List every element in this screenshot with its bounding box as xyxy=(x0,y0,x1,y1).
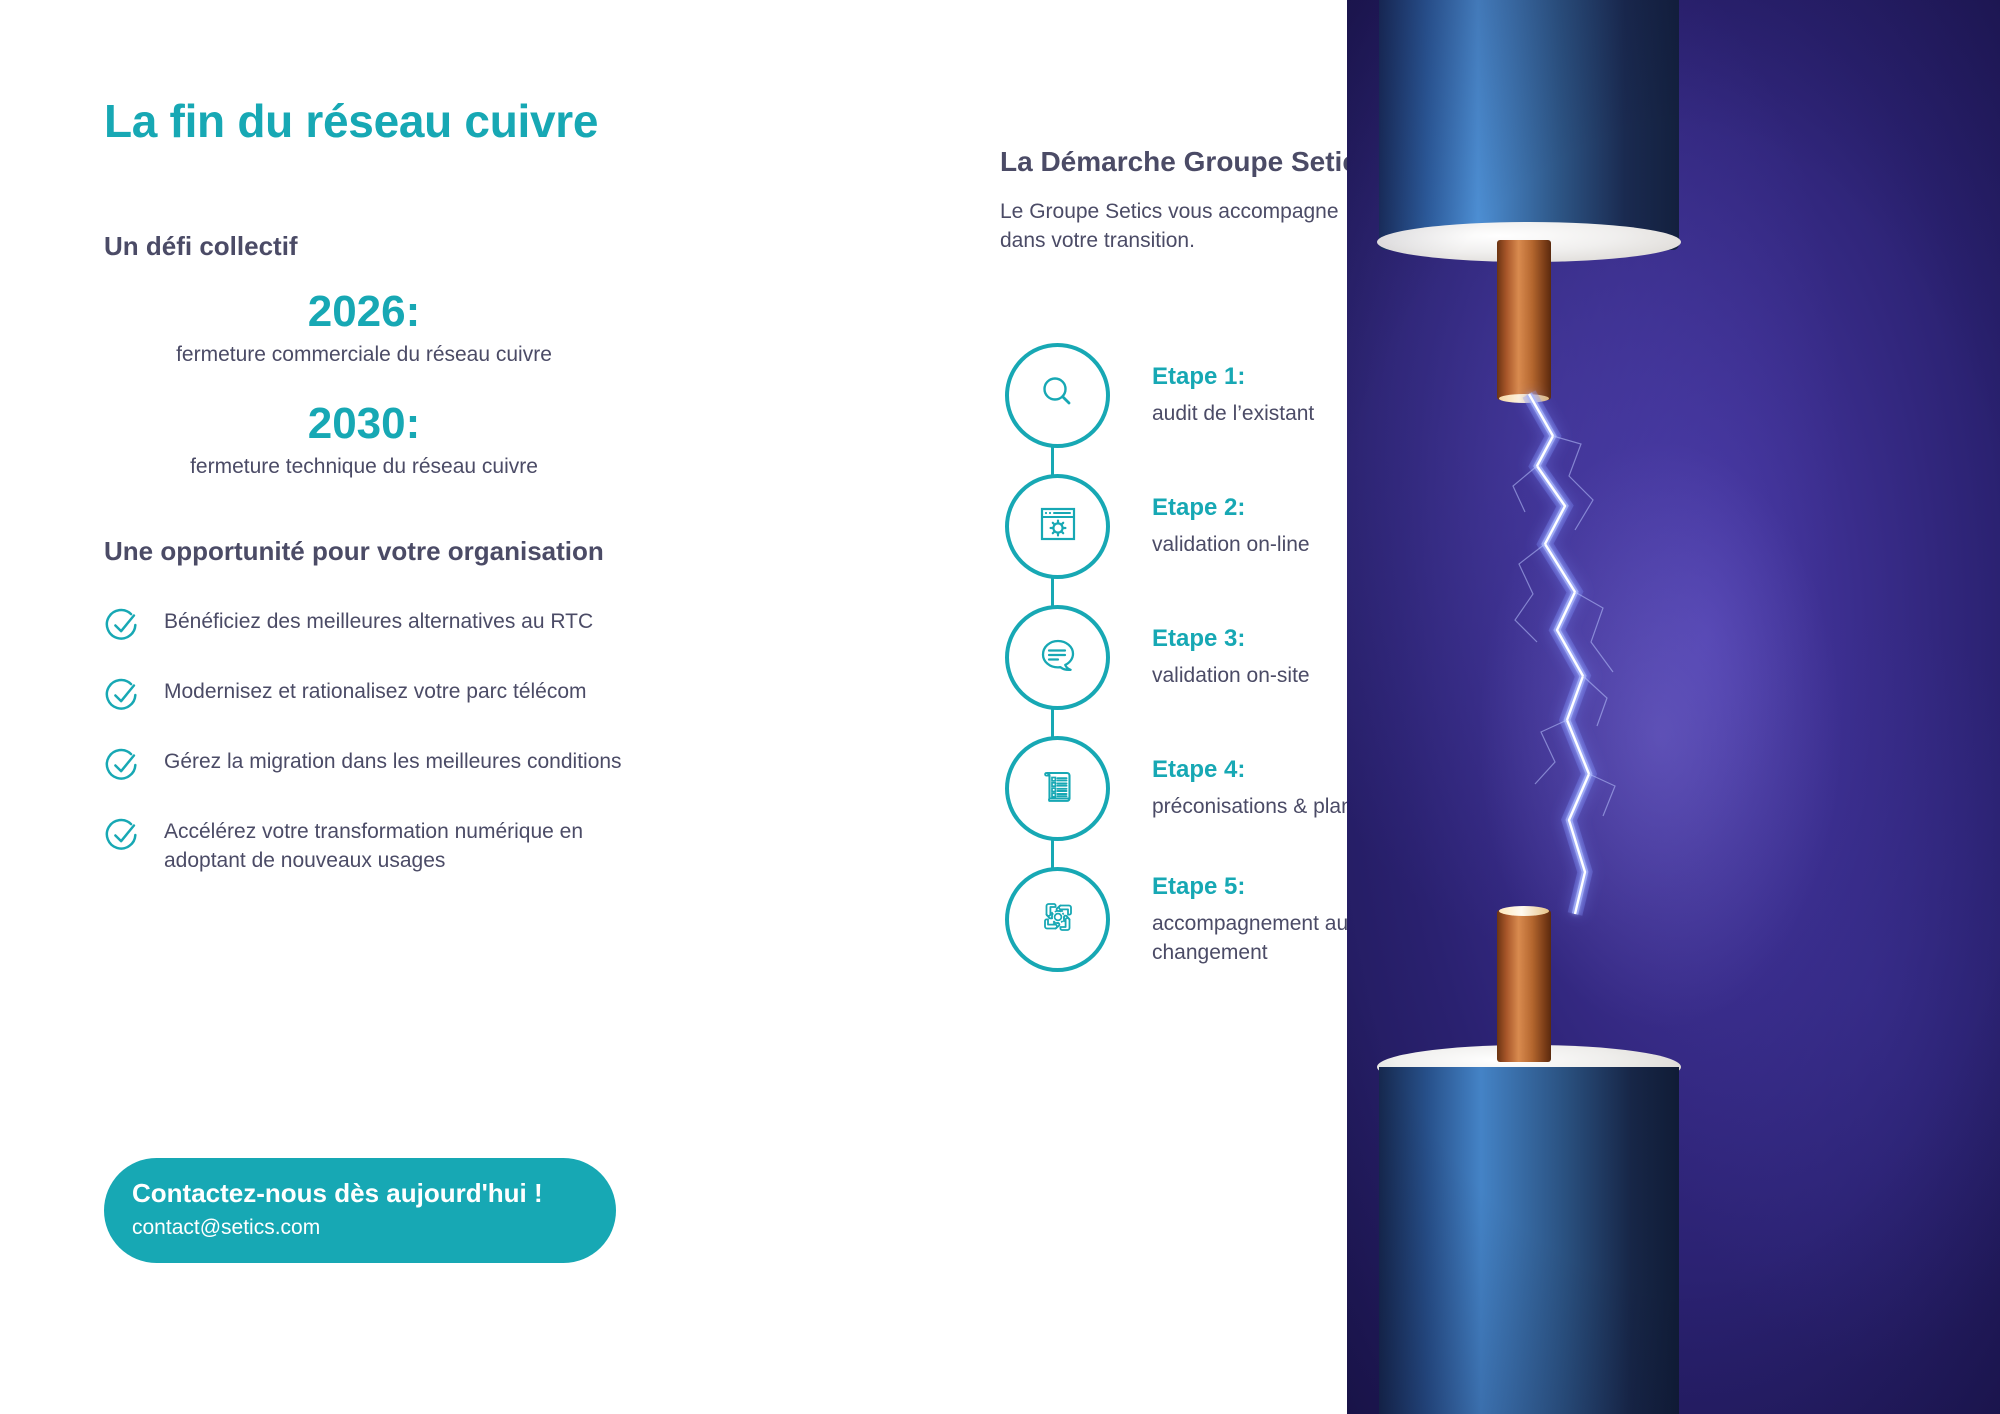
cta-email[interactable]: contact@setics.com xyxy=(132,1212,616,1244)
benefit-text: Modernisez et rationalisez votre parc té… xyxy=(164,674,587,707)
list-item: Gérez la migration dans les meilleures c… xyxy=(104,744,724,784)
contact-cta-button[interactable]: Contactez-nous dès aujourd'hui ! contact… xyxy=(104,1158,616,1263)
step-badge xyxy=(1005,474,1110,579)
check-circle-icon xyxy=(104,816,142,854)
milestone-year: 2026: xyxy=(104,284,624,339)
check-circle-icon xyxy=(104,606,142,644)
list-item: Modernisez et rationalisez votre parc té… xyxy=(104,674,724,714)
poster-content-area: La fin du réseau cuivre Un défi collecti… xyxy=(0,0,1347,1414)
challenge-heading: Un défi collectif xyxy=(104,231,724,262)
list-item: Bénéficiez des meilleures alternatives a… xyxy=(104,604,724,644)
step-connector-line xyxy=(1051,444,1054,478)
cta-title: Contactez-nous dès aujourd'hui ! xyxy=(132,1177,616,1210)
magnifier-icon xyxy=(1035,370,1081,421)
list-item: Accélérez votre transformation numérique… xyxy=(104,814,724,877)
hands-gear-icon xyxy=(1034,893,1082,946)
step-badge xyxy=(1005,605,1110,710)
image-vignette xyxy=(1347,0,2000,1414)
step-description: validation on-site xyxy=(1152,662,1310,691)
step-connector-line xyxy=(1051,837,1054,871)
electric-arc-image xyxy=(1347,0,2000,1414)
benefit-text: Gérez la migration dans les meilleures c… xyxy=(164,744,622,777)
check-circle-icon xyxy=(104,746,142,784)
step-text: Etape 2: validation on-line xyxy=(1152,493,1310,560)
step-name: Etape 1: xyxy=(1152,362,1314,392)
page-title: La fin du réseau cuivre xyxy=(104,96,724,147)
step-connector-line xyxy=(1051,706,1054,740)
left-column: La fin du réseau cuivre Un défi collecti… xyxy=(104,96,724,906)
browser-gear-icon xyxy=(1035,501,1081,552)
benefit-text: Accélérez votre transformation numérique… xyxy=(164,814,664,877)
step-text: Etape 1: audit de l’existant xyxy=(1152,362,1314,429)
step-connector-line xyxy=(1051,575,1054,609)
milestone-caption: fermeture commerciale du réseau cuivre xyxy=(104,341,624,368)
step-name: Etape 2: xyxy=(1152,493,1310,523)
opportunity-heading: Une opportunité pour votre organisation xyxy=(104,536,724,567)
speech-bubble-icon xyxy=(1035,632,1081,683)
step-badge xyxy=(1005,343,1110,448)
approach-subtitle: Le Groupe Setics vous accompagne dans vo… xyxy=(1000,197,1380,257)
step-text: Etape 3: validation on-site xyxy=(1152,624,1310,691)
milestone-2026: 2026: fermeture commerciale du réseau cu… xyxy=(104,284,624,368)
step-description: validation on-line xyxy=(1152,531,1310,560)
step-name: Etape 3: xyxy=(1152,624,1310,654)
milestone-2030: 2030: fermeture technique du réseau cuiv… xyxy=(104,396,624,480)
checklist-scroll-icon xyxy=(1035,763,1081,814)
benefits-list: Bénéficiez des meilleures alternatives a… xyxy=(104,604,724,877)
milestone-year: 2030: xyxy=(104,396,624,451)
step-badge xyxy=(1005,736,1110,841)
step-badge xyxy=(1005,867,1110,972)
check-circle-icon xyxy=(104,676,142,714)
step-description: audit de l’existant xyxy=(1152,400,1314,429)
benefit-text: Bénéficiez des meilleures alternatives a… xyxy=(164,604,593,637)
milestone-caption: fermeture technique du réseau cuivre xyxy=(104,453,624,480)
